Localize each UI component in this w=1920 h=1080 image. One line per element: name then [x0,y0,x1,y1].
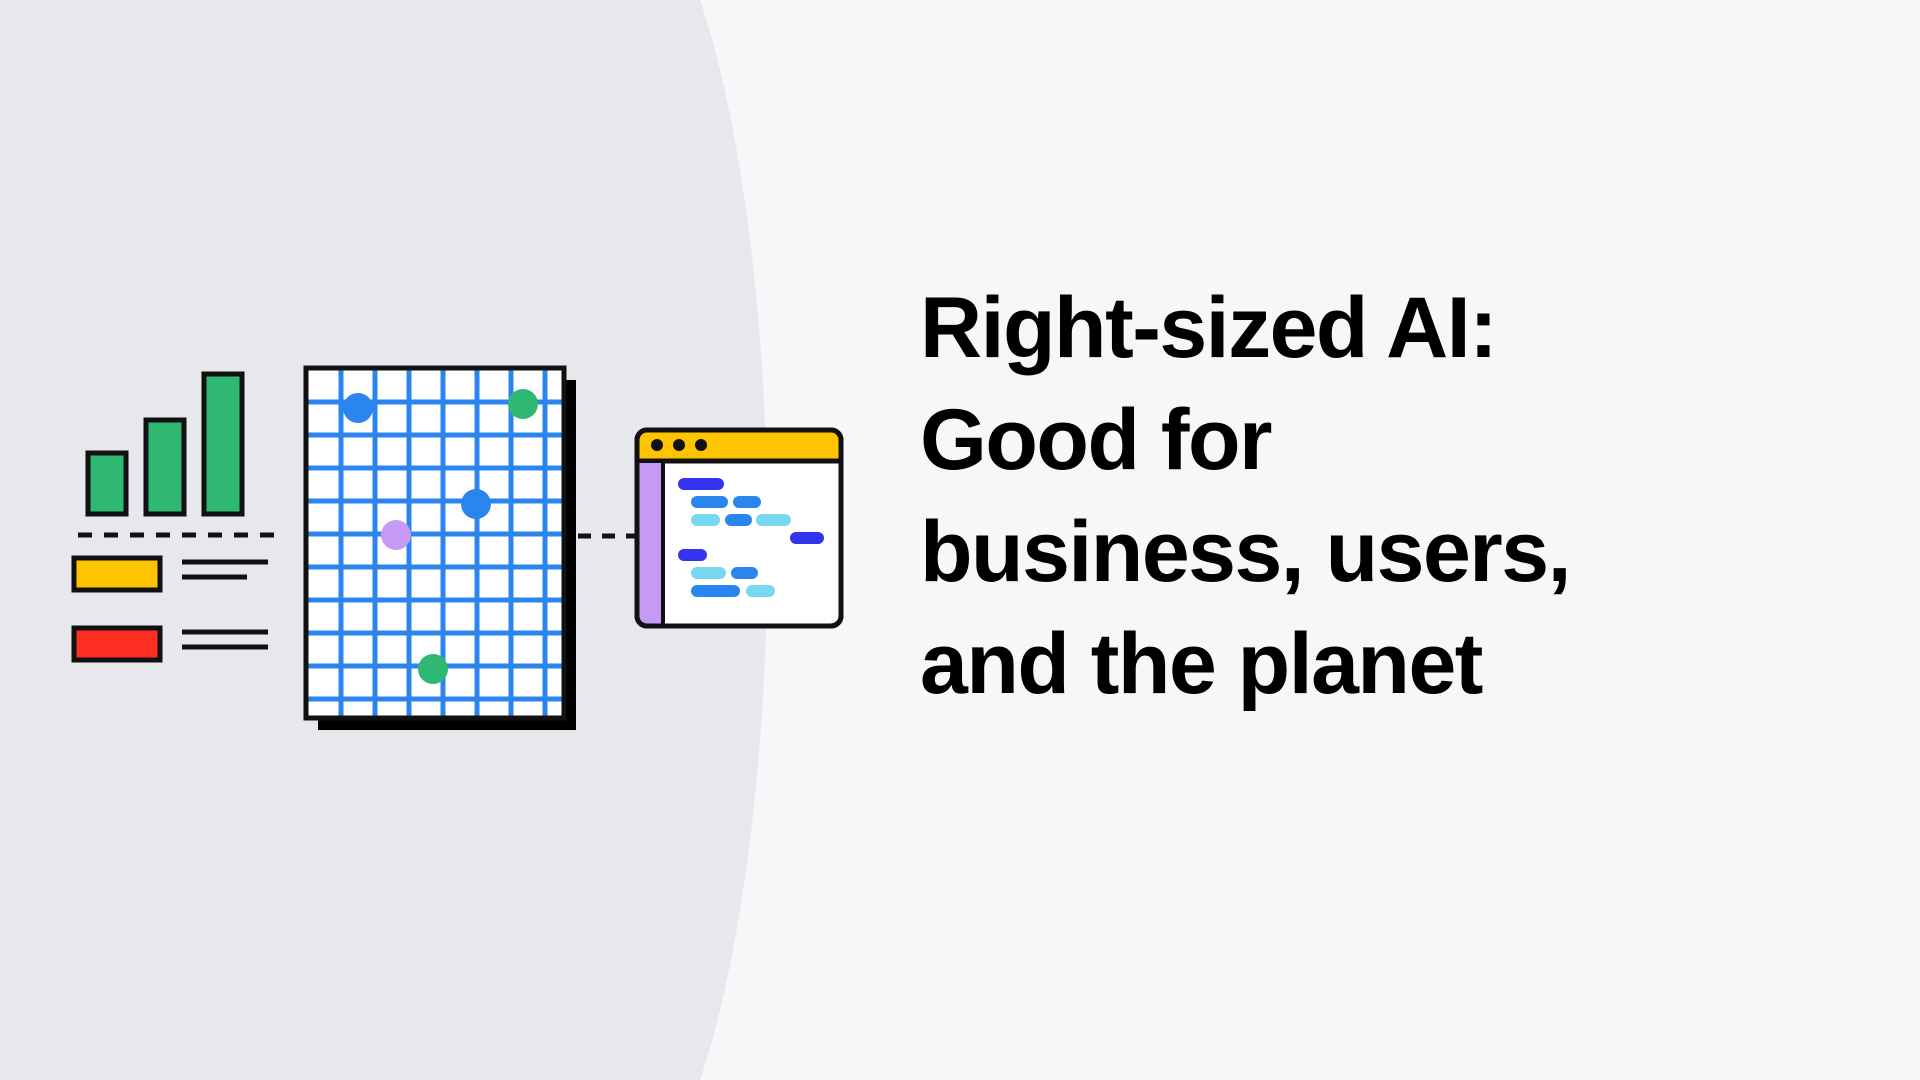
scatter-point-green-1 [508,389,538,419]
code-line-8 [678,549,707,561]
scatter-point-blue-2 [461,489,491,519]
code-line-10 [731,567,758,579]
bar-chart-group [88,374,242,514]
scatter-plot-card [306,368,576,730]
ai-efficiency-illustration [0,0,900,1080]
bar-chart-bar-2 [146,420,184,514]
code-line-11 [691,585,740,597]
legend-row-warning [74,558,268,590]
bar-chart-bar-1 [88,453,126,514]
scatter-point-blue-1 [343,393,373,423]
code-line-4 [691,514,720,526]
code-line-5 [725,514,752,526]
window-dot-close-icon[interactable] [651,439,663,451]
legend-swatch-red [74,628,160,660]
bar-chart-bar-3 [204,374,242,514]
hero-banner: Right-sized AI: Good for business, users… [0,0,1920,1080]
window-dot-minimize-icon[interactable] [673,439,685,451]
code-line-9 [691,567,726,579]
scatter-point-green-2 [418,654,448,684]
code-window [637,430,841,626]
code-line-3 [733,496,761,508]
code-line-7 [790,532,824,544]
legend-swatch-yellow [74,558,160,590]
legend-row-critical [74,628,268,660]
scatter-point-purple-1 [381,520,411,550]
page-title-line-4: and the planet [920,608,1800,720]
page-title-line-2: Good for [920,384,1800,496]
page-title-line-1: Right-sized AI: [920,272,1800,384]
code-line-2 [691,496,728,508]
window-dot-maximize-icon[interactable] [695,439,707,451]
page-title: Right-sized AI: Good for business, users… [920,272,1800,720]
code-line-1 [678,478,724,490]
code-window-titlebar [637,430,841,460]
code-line-6 [756,514,791,526]
code-window-sidebar [639,463,661,626]
code-line-12 [746,585,775,597]
page-title-line-3: business, users, [920,496,1800,608]
